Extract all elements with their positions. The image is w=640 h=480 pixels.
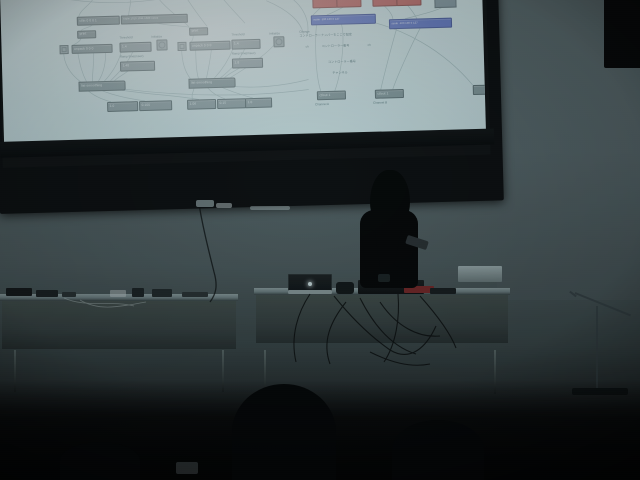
performer-hand-left [378,274,390,282]
white-device [458,266,502,282]
patch-object-grey-square-right[interactable] [434,0,457,8]
wall-cable-clip [196,200,214,207]
patch-object-ramp-num-right[interactable]: 1.8 [232,58,263,69]
patch-object-edge-obj-right[interactable] [473,85,486,96]
patch-object-unpack-left[interactable]: unpack 0 0 0 [71,44,112,54]
patch-object-msg-smoothing-left[interactable]: list-smoothing [78,80,125,91]
patch-object-threshold-num-right[interactable]: 1.4 [231,39,260,50]
patch-label-label-jp-col1: ch [306,46,309,49]
patch-object-red-a1[interactable] [312,0,337,8]
patch-object-out-b2[interactable]: 0.15 [217,98,246,109]
max-patch-canvas[interactable]: ctlin 0 0 0 1route 1010 1011 1020 xxxxxp… [0,0,486,146]
patch-object-initialize-bang-left[interactable] [156,39,167,50]
performer [348,170,428,300]
apple-logo-icon [308,282,312,286]
patch-label-label-ramp-left: Ramp time(msec) [120,55,144,59]
patch-label-label-ramp-right: Ramp time(msec) [232,52,256,56]
patch-label-label-out-left: Channel A [315,103,329,106]
wall-cable [186,198,306,308]
patch-object-msg-smoothing-right[interactable]: list-smoothing [188,78,235,89]
patch-object-print-mid[interactable]: print [189,27,208,36]
patch-object-red-b2[interactable] [396,0,421,6]
patch-object-out-a2[interactable]: 0.100 [139,100,172,111]
patch-object-out-b1[interactable]: 1.06 [187,99,216,110]
audience-head-left [60,442,140,480]
foreground-light-object [176,462,198,474]
patch-object-threshold-num-left[interactable]: 1.4 [119,42,151,53]
audience-head-center [232,384,336,480]
patch-label-label-threshold-right: Threshold [231,33,244,36]
patch-object-route-left[interactable]: route 1010 1011 1020 xxxxx [121,14,188,25]
patch-label-label-jp-row3: チャンネル [332,71,347,75]
patch-object-unpack-right[interactable]: unpack 0 0 0 [189,41,230,51]
patch-object-red-b1[interactable] [372,0,397,7]
patch-object-initialize-bang-right[interactable] [273,36,284,47]
wall-shelf-object-1 [216,203,232,208]
patch-object-scale-msg-right[interactable]: scale -100 100 0 127 [389,18,452,30]
patch-object-ctlout-right[interactable]: ctlout 1 [375,89,404,99]
photo-scene: Edit Lock 1 2 [0,0,640,480]
patch-object-ctlout-left[interactable]: ctlout 1 [317,91,346,101]
patch-object-red-a2[interactable] [336,0,361,8]
patch-object-out-a1[interactable]: 1.0 [107,101,138,112]
patch-object-receive-left[interactable]: ctlin 0 0 0 1 [77,16,120,26]
patch-label-label-out-right: Channel B [373,101,387,104]
patch-label-label-initialize-left: Initialize [151,35,162,38]
side-gear-2 [36,290,58,297]
patch-object-toggle-left[interactable] [59,45,68,54]
patch-object-print-left[interactable]: print [77,30,96,39]
projection-screen-frame: Edit Lock 1 2 [0,0,504,214]
patch-label-label-initialize-right: Initialize [269,32,280,35]
wall-speaker [604,0,640,68]
wall-shelf-object-2 [250,206,290,210]
patch-object-ramp-num-left[interactable]: 1.48 [120,61,155,72]
projection-screen-surface: Edit Lock 1 2 [0,0,486,146]
patch-label-label-jp-col3: ch [368,44,371,47]
patch-label-label-threshold-left: Threshold [119,36,132,39]
side-table-cables [60,296,180,326]
side-gear-1 [6,288,32,296]
patch-object-out-b3[interactable]: 1.0 [245,98,272,109]
audience-head-right [392,420,484,480]
patch-object-toggle-right[interactable] [177,42,186,51]
patch-object-scale-msg-left[interactable]: scale -100 100 0 127 [311,14,376,26]
